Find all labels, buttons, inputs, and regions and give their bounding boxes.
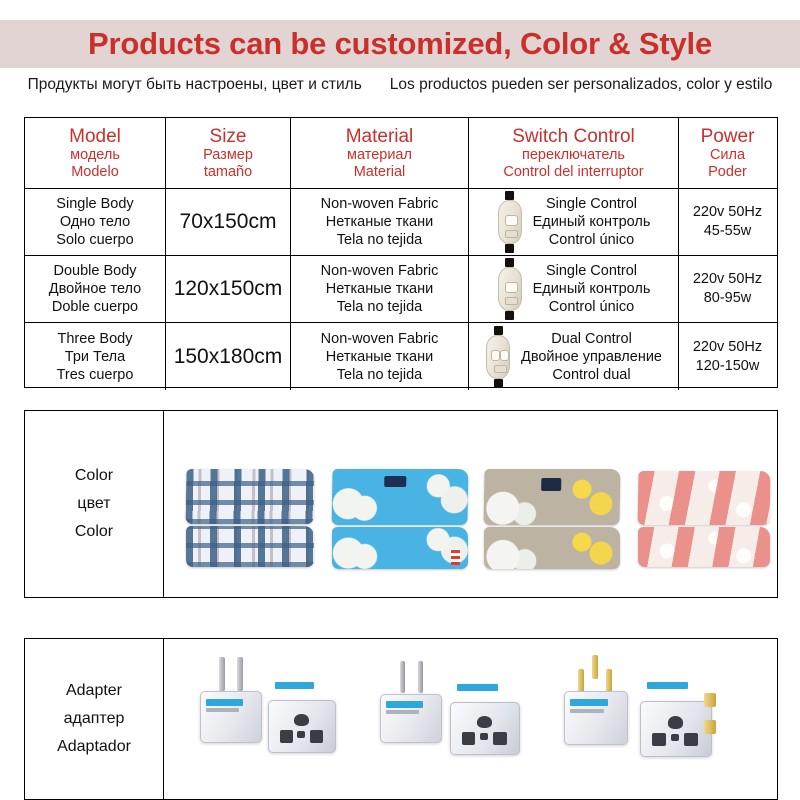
column-header-model-ru: модель — [70, 147, 120, 164]
column-header-model-en: Model — [69, 126, 121, 147]
adapter-label-es: Adaptador — [57, 738, 131, 756]
power-voltage: 220v 50Hz — [693, 338, 762, 357]
blue-white-plaid-blanket[interactable] — [186, 469, 314, 567]
color-swatch-gallery — [164, 411, 777, 597]
cell-material: Non-woven Fabric Нетканые ткани Tela no … — [291, 189, 469, 255]
product-spec-page: Products can be customized, Color & Styl… — [0, 0, 800, 800]
material-ru: Нетканые ткани — [326, 213, 433, 231]
subtitle-russian: Продукты могут быть настроены, цвет и ст… — [28, 76, 362, 94]
model-ru: Двойное тело — [49, 280, 141, 298]
column-header-switch-en: Switch Control — [512, 126, 635, 147]
power-voltage: 220v 50Hz — [693, 203, 762, 222]
column-header-model-es: Modelo — [71, 164, 119, 181]
cell-material: Non-woven Fabric Нетканые ткани Tela no … — [291, 323, 469, 390]
column-header-power-ru: Сила — [710, 147, 745, 164]
column-header-power: Power Сила Poder — [679, 118, 776, 188]
material-en: Non-woven Fabric — [321, 195, 439, 213]
uk-socket-adapter[interactable] — [640, 679, 712, 757]
cell-size: 70x150cm — [166, 189, 291, 255]
color-label-ru: цвет — [77, 495, 110, 513]
switch-en: Dual Control — [551, 330, 632, 348]
model-en: Three Body — [58, 330, 133, 348]
eu-socket-adapter[interactable] — [268, 679, 336, 753]
column-header-power-en: Power — [701, 126, 755, 147]
column-header-model: Model модель Modelo — [25, 118, 166, 188]
cell-model: Single Body Одно тело Solo cuerpo — [25, 189, 166, 255]
switch-en: Single Control — [546, 195, 637, 213]
material-en: Non-woven Fabric — [321, 330, 439, 348]
cell-model: Three Body Три Тела Tres cuerpo — [25, 323, 166, 390]
cell-switch-control: Single Control Единый контроль Control ú… — [469, 256, 679, 322]
material-ru: Нетканые ткани — [326, 280, 433, 298]
color-panel-label: Color цвет Color — [25, 411, 164, 597]
cell-switch-control: Single Control Единый контроль Control ú… — [469, 189, 679, 255]
model-ru: Три Тела — [65, 348, 125, 366]
cell-switch-control: Dual Control Двойное управление Control … — [469, 323, 679, 390]
size-value: 70x150cm — [180, 210, 277, 234]
table-row: Double Body Двойное тело Doble cuerpo 12… — [25, 256, 777, 323]
column-header-size: Size Размер tamaño — [166, 118, 291, 188]
cell-power: 220v 50Hz 45-55w — [679, 189, 776, 255]
column-header-size-ru: Размер — [203, 147, 253, 164]
eu-plug-adapter[interactable] — [200, 657, 262, 743]
table-row: Single Body Одно тело Solo cuerpo 70x150… — [25, 189, 777, 256]
model-en: Double Body — [53, 262, 136, 280]
uk-plug-adapter[interactable] — [564, 655, 628, 745]
size-value: 120x150cm — [174, 277, 283, 301]
us-plug-adapter[interactable] — [380, 661, 442, 743]
material-es: Tela no tejida — [337, 231, 422, 249]
dual-control-switch-icon — [485, 326, 511, 388]
switch-ru: Двойное управление — [521, 348, 662, 366]
power-watts: 45-55w — [704, 222, 752, 241]
subtitle-spanish: Los productos pueden ser personalizados,… — [390, 76, 773, 94]
column-header-switch-ru: переключатель — [522, 147, 625, 164]
cell-model: Double Body Двойное тело Doble cuerpo — [25, 256, 166, 322]
model-ru: Одно тело — [60, 213, 130, 231]
table-header-row: Model модель Modelo Size Размер tamaño M… — [25, 118, 777, 189]
cell-power: 220v 50Hz 80-95w — [679, 256, 776, 322]
single-control-switch-icon — [497, 258, 523, 320]
switch-es: Control único — [549, 298, 634, 316]
model-es: Tres cuerpo — [57, 366, 134, 384]
column-header-material: Material материал Material — [291, 118, 469, 188]
column-header-switch-es: Control del interruptor — [503, 164, 643, 181]
model-en: Single Body — [56, 195, 133, 213]
adapter-gallery — [164, 639, 777, 799]
power-voltage: 220v 50Hz — [693, 270, 762, 289]
adapter-panel-label: Adapter адаптер Adaptador — [25, 639, 164, 799]
subtitle-row: Продукты могут быть настроены, цвет и ст… — [0, 76, 800, 94]
switch-es: Control único — [549, 231, 634, 249]
cell-power: 220v 50Hz 120-150w — [679, 323, 776, 390]
adapter-label-en: Adapter — [66, 682, 122, 700]
us-socket-adapter[interactable] — [450, 681, 520, 755]
adapter-label-ru: адаптер — [64, 710, 125, 728]
single-control-switch-icon — [497, 191, 523, 253]
column-header-switch-control: Switch Control переключатель Control del… — [469, 118, 679, 188]
material-en: Non-woven Fabric — [321, 262, 439, 280]
color-panel: Color цвет Color — [24, 410, 778, 598]
cell-size: 120x150cm — [166, 256, 291, 322]
cell-size: 150x180cm — [166, 323, 291, 390]
column-header-material-ru: материал — [347, 147, 412, 164]
blue-cloud-print-blanket[interactable] — [332, 469, 468, 569]
model-es: Doble cuerpo — [52, 298, 138, 316]
column-header-material-en: Material — [346, 126, 414, 147]
color-label-en: Color — [75, 467, 113, 485]
material-ru: Нетканые ткани — [326, 348, 433, 366]
material-es: Tela no tejida — [337, 366, 422, 384]
switch-ru: Единый контроль — [533, 280, 651, 298]
model-es: Solo cuerpo — [56, 231, 133, 249]
column-header-power-es: Poder — [708, 164, 747, 181]
cell-material: Non-woven Fabric Нетканые ткани Tela no … — [291, 256, 469, 322]
column-header-size-en: Size — [210, 126, 247, 147]
column-header-material-es: Material — [354, 164, 406, 181]
column-header-size-es: tamaño — [204, 164, 252, 181]
power-watts: 80-95w — [704, 289, 752, 308]
beige-cartoon-print-blanket[interactable] — [484, 469, 620, 569]
switch-es: Control dual — [552, 366, 630, 384]
switch-ru: Единый контроль — [533, 213, 651, 231]
size-value: 150x180cm — [174, 345, 283, 369]
pink-floral-blanket[interactable] — [638, 471, 770, 567]
material-es: Tela no tejida — [337, 298, 422, 316]
adapter-panel: Adapter адаптер Adaptador — [24, 638, 778, 800]
specification-table: Model модель Modelo Size Размер tamaño M… — [24, 117, 778, 388]
page-title: Products can be customized, Color & Styl… — [0, 21, 800, 67]
switch-en: Single Control — [546, 262, 637, 280]
color-label-es: Color — [75, 523, 113, 541]
table-row: Three Body Три Тела Tres cuerpo 150x180c… — [25, 323, 777, 390]
power-watts: 120-150w — [696, 357, 760, 376]
